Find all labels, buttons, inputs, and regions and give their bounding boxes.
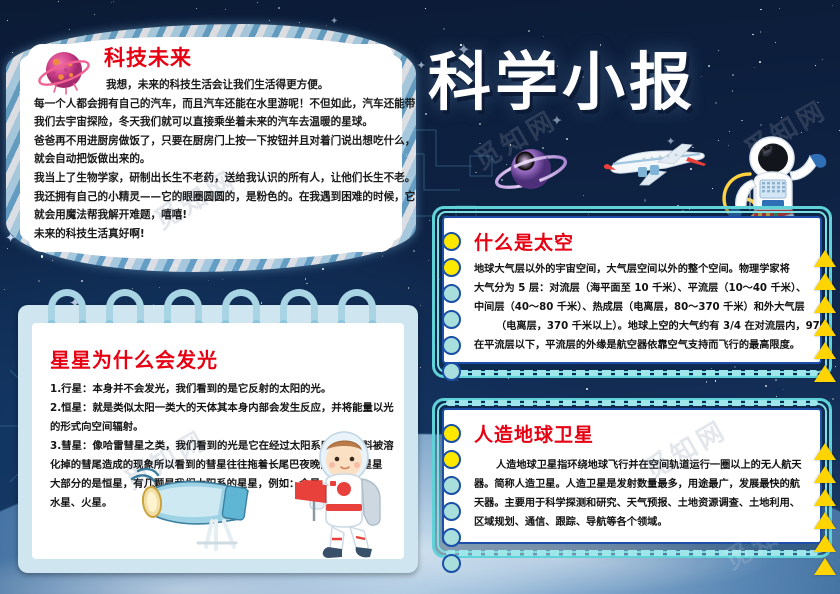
stars-line: 的形式向空间辐射。: [50, 418, 388, 437]
notebook-sheet: 星星为什么会发光 1.行星：本身并不会发光，我们看到的是它反射的太阳的光。 2.…: [32, 323, 404, 559]
bullet-dot: [442, 502, 461, 521]
bullet-dot: [442, 310, 461, 329]
space-line: 中间层（40～80 千米）、热成层（电离层，80～370 千米）和外大气层: [474, 298, 808, 317]
space-body: 地球大气层以外的宇宙空间，大气层空间以外的整个空间。物理学家将 大气分为 5 层…: [474, 260, 808, 355]
space-line: 地球大气层以外的宇宙空间，大气层空间以外的整个空间。物理学家将: [474, 260, 808, 279]
panel-sheet: 人造地球卫星 人造地球卫星指环绕地球飞行并在空间轨道运行一圈以上的无人航天 器。…: [442, 408, 822, 544]
triangle-icon: [814, 365, 836, 382]
triangle-icon: [814, 296, 836, 313]
triangle-icon: [814, 250, 836, 267]
triangle-icon: [814, 535, 836, 552]
triangle-strip-upper: [814, 250, 836, 388]
satellite-line: 人造地球卫星指环绕地球飞行并在空间轨道运行一圈以上的无人航天: [474, 456, 808, 475]
panel-sheet: 什么是太空 地球大气层以外的宇宙空间，大气层空间以外的整个空间。物理学家将 大气…: [442, 216, 822, 364]
future-line: 未来的科技生活真好啊!: [34, 225, 388, 244]
satellite-line: 区域规划、通信、跟踪、导航等各个领域。: [474, 513, 808, 532]
space-line: 在平流层以下，平流层的外缘是航空器依靠空气支持而飞行的最高限度。: [474, 336, 808, 355]
future-line: 我当上了生物学家，研制出长生不老药，送给我认识的所有人，让他们长生不老。: [34, 169, 388, 188]
satellite-body: 人造地球卫星指环绕地球飞行并在空间轨道运行一圈以上的无人航天 器。简称人造卫星。…: [474, 456, 808, 532]
stars-line: 3.彗星：像哈雷彗星之类，我们看到的光是它在经过太阳系时，其材料被溶: [50, 437, 388, 456]
bullet-dot: [442, 336, 461, 355]
airplane-icon: [600, 140, 708, 190]
satellite-heading: 人造地球卫星: [474, 422, 808, 448]
satellite-line: 器。简称人造卫星。人造卫星是发射数量最多，用途最广，发展最快的航: [474, 475, 808, 494]
bullet-dot-column: [442, 424, 461, 580]
stars-line: 2.恒星：就是类似太阳一类大的天体其本身内部会发生反应，并将能量以光: [50, 399, 388, 418]
future-heading: 科技未来: [104, 44, 388, 72]
science-poster: ✦✦✦✦✦✦✦✦✦✦✦✦✦✦ 科学小报: [0, 0, 840, 594]
bullet-dot: [442, 476, 461, 495]
panel-dashed-strip: [446, 370, 818, 376]
ringed-planet-pink-icon: [36, 44, 92, 100]
bullet-dot: [442, 258, 461, 277]
stars-line: 1.行星：本身并不会发光，我们看到的是它反射的太阳的光。: [50, 380, 388, 399]
bullet-dot: [442, 554, 461, 573]
future-body: 我想，未来的科技生活会让我们生活得更方便。 每一个人都会拥有自己的汽车，而且汽车…: [34, 76, 388, 243]
triangle-icon: [814, 489, 836, 506]
triangle-icon: [814, 342, 836, 359]
notebook-spiral-rings: [48, 289, 378, 323]
satellite-line: 天器。主要用于科学探测和研究、天气预报、土地资源调查、土地利用、: [474, 494, 808, 513]
page-title: 科学小报: [428, 32, 828, 123]
triangle-icon: [814, 512, 836, 529]
bullet-dot: [442, 450, 461, 469]
space-line: （电离层，370 千米以上）。地球上空的大气约有 3/4 在对流层内，97%: [474, 317, 808, 336]
future-line: 我们去宇宙探险，冬天我们就可以直接乘坐着未来的汽车去温暖的星球。: [34, 113, 388, 132]
bullet-dot: [442, 362, 461, 381]
stars-heading: 星星为什么会发光: [50, 347, 388, 373]
bullet-dot: [442, 528, 461, 547]
space-heading: 什么是太空: [474, 230, 808, 256]
triangle-icon: [814, 319, 836, 336]
panel-technology-future: 科技未来 我想，未来的科技生活会让我们生活得更方便。 每一个人都会拥有自己的汽车…: [6, 24, 416, 272]
triangle-icon: [814, 273, 836, 290]
stars-line: 大部分的是恒星，有几颗是我们太阳系的星星，例如：金星、: [50, 475, 388, 494]
panel-what-is-space: 什么是太空 地球大气层以外的宇宙空间，大气层空间以外的整个空间。物理学家将 大气…: [432, 206, 832, 378]
panel-dashed-strip-top: [446, 400, 818, 406]
panel-artificial-satellite: 人造地球卫星 人造地球卫星指环绕地球飞行并在空间轨道运行一圈以上的无人航天 器。…: [432, 398, 832, 558]
triangle-icon: [814, 466, 836, 483]
triangle-strip-lower: [814, 443, 836, 581]
future-line: 我还拥有自己的小精灵——它的眼圈圆圆的，是粉色的。在我遇到困难的时候，它: [34, 188, 388, 207]
ringed-planet-purple-icon: [493, 140, 569, 202]
bullet-dot-column: [442, 232, 461, 388]
space-line: 大气分为 5 层：对流层（海平面至 10 千米）、平流层（10～40 千米）、: [474, 279, 808, 298]
stars-line: 水星、火星。: [50, 494, 388, 513]
panel-dashed-strip-bottom: [446, 550, 818, 556]
future-line: 就会用魔法帮我解开难题，嘻嘻!: [34, 206, 388, 225]
triangle-icon: [814, 558, 836, 575]
future-line: 爸爸再不用进厨房做饭了，只要在厨房门上按一下按钮并且对着门说出想吃什么，: [34, 132, 388, 151]
bullet-dot: [442, 284, 461, 303]
stars-line: 化掉的彗尾造成的现象所以看到的彗星往往拖着长尾巴夜晚能看到的星星: [50, 456, 388, 475]
panel-why-stars-shine: 星星为什么会发光 1.行星：本身并不会发光，我们看到的是它反射的太阳的光。 2.…: [18, 305, 418, 573]
stars-body: 1.行星：本身并不会发光，我们看到的是它反射的太阳的光。 2.恒星：就是类似太阳…: [50, 380, 388, 513]
triangle-icon: [814, 443, 836, 460]
bullet-dot: [442, 232, 461, 251]
future-line: 就会自动把饭做出来的。: [34, 150, 388, 169]
bullet-dot: [442, 424, 461, 443]
